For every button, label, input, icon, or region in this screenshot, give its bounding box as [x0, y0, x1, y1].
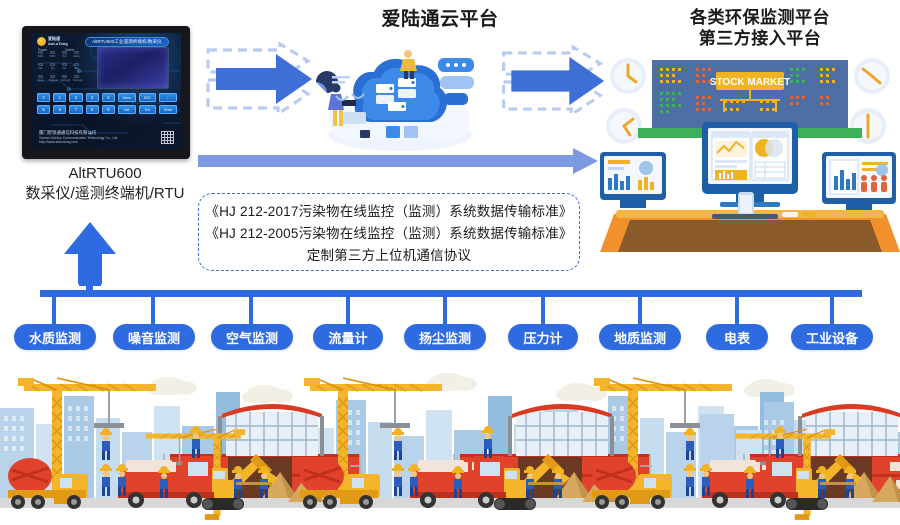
standard-line-3: 定制第三方上位机通信协议: [307, 244, 471, 264]
rtu-keypad: 0 1 2 3 4 Menu ESC ← 5 6 7 8 9 Del Ent: [37, 93, 177, 117]
sensor-pill-noise[interactable]: 噪音监测: [113, 324, 195, 350]
rtu-model-label: AltRTU600: [0, 164, 210, 184]
keypad-key[interactable]: 8: [86, 105, 99, 114]
clock-icon: [606, 108, 642, 144]
rtu-device-image: 爱陆通 AoLuTong AltRTU600工业遥测终端机/数采仪 Power …: [22, 26, 190, 159]
sensor-pill-industrial[interactable]: 工业设备: [791, 324, 873, 350]
monitoring-platform-title: 各类环保监测平台 第三方接入平台: [620, 8, 900, 49]
sensors-to-rtu-arrow-head: [52, 222, 128, 284]
led-indicator: Reset: [37, 75, 44, 82]
sensor-pill-dust[interactable]: 扬尘监测: [404, 324, 486, 350]
construction-site-illustration: [0, 362, 900, 525]
brand-name-latin: AoLuTong: [48, 42, 68, 46]
led-row: Net Sig Ser Eth: [37, 63, 89, 70]
sensor-pill-electric-meter[interactable]: 电表: [706, 324, 768, 350]
keypad-key[interactable]: 3: [86, 93, 99, 102]
sensor-pill-water-quality[interactable]: 水质监测: [14, 324, 96, 350]
keypad-row: 5 6 7 8 9 Del Ent Enter: [37, 105, 177, 114]
diagram-canvas: 爱陆通云平台 各类环保监测平台 第三方接入平台: [0, 0, 900, 525]
sensor-pill-pressure-gauge[interactable]: 压力计: [508, 324, 578, 350]
keypad-key[interactable]: 0: [37, 93, 50, 102]
protocol-standards-box: 《HJ 212-2017污染物在线监控（监测）系统数据传输标准》 《HJ 212…: [198, 193, 580, 271]
rtu-to-cloud-arrow: [196, 42, 316, 116]
led-indicator: SIM2: [49, 51, 56, 58]
rtu-company-info: 厦门智锐通通信科技有限公司 Xiamen Aoldun Communicatio…: [39, 130, 118, 145]
keypad-key[interactable]: 6: [53, 105, 66, 114]
led-indicator: Debug3: [73, 75, 80, 82]
standard-line-2: 《HJ 212-2005污染物在线监控（监测）系统数据传输标准》: [205, 222, 572, 242]
led-indicator: SIM1: [37, 51, 44, 58]
keypad-row: 0 1 2 3 4 Menu ESC ←: [37, 93, 177, 102]
keypad-key-del[interactable]: Del: [118, 105, 136, 114]
keypad-key-esc[interactable]: ESC: [139, 93, 157, 102]
brand-mark-icon: [37, 37, 46, 46]
keypad-key[interactable]: 4: [102, 93, 115, 102]
led-indicator: Sig: [49, 63, 56, 70]
standard-line-1: 《HJ 212-2017污染物在线监控（监测）系统数据传输标准》: [205, 200, 572, 220]
led-row: SIM1 SIM2 Run Alarm: [37, 51, 89, 58]
led-row: Reset Debug1 Debug2 Debug3: [37, 75, 89, 82]
clock-icon: [850, 108, 886, 144]
rtu-lcd-screen: [97, 47, 169, 89]
cloud-to-platform-arrow: [492, 44, 608, 118]
led-indicator: Net: [37, 63, 44, 70]
clock-icon: [610, 58, 646, 94]
keypad-key-ent[interactable]: Ent: [139, 105, 157, 114]
keypad-key[interactable]: 1: [53, 93, 66, 102]
keypad-key[interactable]: 7: [69, 105, 82, 114]
clock-icon: [854, 58, 890, 94]
cloud-platform-title: 爱陆通云平台: [300, 8, 580, 31]
rtu-type-label: 数采仪/遥测终端机/RTU: [0, 184, 210, 204]
keypad-key[interactable]: 9: [102, 105, 115, 114]
keypad-key-enter[interactable]: Enter: [159, 105, 177, 114]
rtu-model-banner: AltRTU600工业遥测终端机/数采仪: [85, 37, 169, 47]
sensor-pill-flow-meter[interactable]: 流量计: [313, 324, 383, 350]
monitoring-platform-illustration: STOCK MARKET: [600, 52, 900, 282]
rtu-led-block: SIM1 SIM2 Run Alarm Net Sig Ser Eth Rese…: [37, 51, 89, 87]
keypad-key[interactable]: 5: [37, 105, 50, 114]
led-indicator: Alarm: [73, 51, 80, 58]
sensor-pill-geology[interactable]: 地质监测: [599, 324, 681, 350]
keypad-key-back[interactable]: ←: [159, 93, 177, 102]
qr-code-icon: [160, 130, 175, 145]
sensor-pill-air[interactable]: 空气监测: [211, 324, 293, 350]
led-indicator: Debug2: [61, 75, 68, 82]
led-indicator: Eth: [73, 63, 80, 70]
monitoring-platform-title-line1: 各类环保监测平台: [620, 8, 900, 29]
company-website: http://www.aoluotong.com: [39, 140, 118, 145]
keypad-key[interactable]: 2: [69, 93, 82, 102]
led-indicator: Ser: [61, 63, 68, 70]
stock-market-label: STOCK MARKET: [710, 77, 790, 88]
cloud-platform-illustration: [300, 40, 490, 155]
keypad-key-menu[interactable]: Menu: [118, 93, 136, 102]
rtu-brand-logo: 爱陆通 AoLuTong: [37, 37, 68, 46]
led-indicator: Debug1: [49, 75, 56, 82]
rtu-caption: AltRTU600 数采仪/遥测终端机/RTU: [0, 164, 210, 205]
monitoring-platform-title-line2: 第三方接入平台: [620, 29, 900, 50]
led-indicator: Run: [61, 51, 68, 58]
rtu-front-panel: 爱陆通 AoLuTong AltRTU600工业遥测终端机/数采仪 Power …: [31, 33, 181, 149]
